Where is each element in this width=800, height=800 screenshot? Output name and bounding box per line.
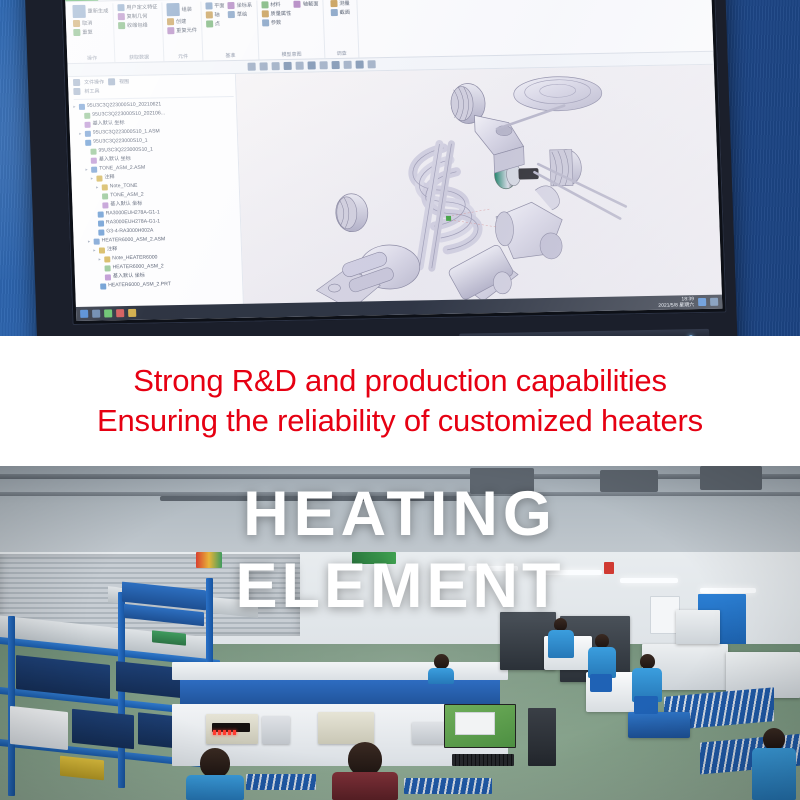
tree-node-label: HEATER6000_ASM_2.PRT (108, 280, 171, 290)
tree-expand-icon[interactable]: ▸ (86, 237, 91, 246)
ribbon-group-title: 元件 (178, 53, 188, 60)
worker-torso (428, 668, 454, 684)
material-icon (261, 1, 268, 8)
worker-torso (186, 775, 244, 800)
tree-node-label: HEATER6000_ASM_2.ASM (101, 235, 165, 245)
factory-worker-foreground (186, 748, 244, 800)
tree-node-asm-icon (94, 238, 100, 244)
caption-band: Strong R&D and production capabilities E… (0, 336, 800, 466)
ribbon-item-label: 草绘 (237, 11, 248, 18)
repaint-icon[interactable] (284, 62, 292, 70)
ceiling-lamp (468, 566, 518, 571)
control-cabinet (676, 610, 720, 644)
datum-display-icon[interactable] (308, 61, 316, 69)
worker-head (763, 728, 785, 750)
section-icon (294, 1, 301, 8)
model-tree-toolbar-secondary[interactable]: 树工具 (71, 85, 235, 97)
ribbon-item-coordinate-system[interactable]: 坐标系 (227, 2, 252, 9)
creo-taskbar-icon[interactable] (116, 309, 124, 317)
copy-geometry-icon (117, 13, 124, 20)
tree-node-prt-icon (100, 283, 106, 289)
tree-toolbar-label[interactable]: 树工具 (84, 88, 99, 95)
tree-node-asm-icon (79, 103, 85, 109)
led-digit (213, 730, 216, 735)
ribbon-item-create[interactable]: 创建 (167, 18, 197, 26)
ceiling-lamp (620, 578, 678, 583)
worker-torso (548, 630, 574, 658)
worker-torso (752, 748, 796, 800)
ceiling-beam (0, 474, 800, 479)
part-valve-body (494, 186, 564, 260)
ribbon-item-label: 平面 (214, 2, 225, 9)
cad-workstation-photo: creo 文件 模型 分析 实时仿真 连接 (0, 0, 800, 336)
led-digit (228, 730, 231, 735)
ribbon-item-repeat[interactable]: 重复元件 (167, 27, 197, 35)
storage-bin (72, 709, 134, 750)
fire-alarm-icon (604, 562, 614, 574)
led-digit (233, 730, 236, 735)
creo-workspace: 文件操作 视图 树工具 ▸95U3C3Q223000S10_2021062195… (68, 65, 722, 307)
tree-node-label: 注释 (107, 245, 118, 254)
tree-view-icon[interactable] (108, 78, 115, 85)
led-digit (218, 730, 221, 735)
part-threaded-nut-left (335, 193, 368, 232)
ribbon-group-title: 调查 (337, 50, 347, 57)
tree-node-label: TONE_ASM_2.ASM (99, 164, 145, 174)
tree-node-asm-icon (91, 166, 97, 172)
factory-worker-behind-bench (428, 654, 454, 684)
ribbon-item-parameters[interactable]: 参数 (262, 19, 292, 27)
caption-line-2: Ensuring the reliability of customized h… (97, 401, 703, 441)
ribbon-item-user-defined-feature[interactable]: 用户定义特征 (117, 3, 157, 11)
exploded-assembly-model[interactable] (236, 65, 722, 304)
ceiling-duct (600, 470, 658, 492)
ribbon-item-copy-geometry[interactable]: 复制几何 (117, 12, 157, 20)
zoom-in-icon[interactable] (260, 62, 268, 70)
ceiling-duct (700, 466, 762, 490)
ribbon-item-label: 收缩包络 (127, 22, 148, 29)
worker-head (200, 748, 230, 778)
ribbon-group-operations: 重新生成 取消 重复 (68, 3, 115, 63)
cross-section-icon (330, 9, 337, 16)
part-mounting-flange (315, 244, 421, 303)
ribbon-item-assemble[interactable]: 组装 (166, 3, 196, 17)
caption-line-1: Strong R&D and production capabilities (133, 361, 667, 401)
show-desktop-icon[interactable] (710, 298, 718, 306)
ribbon-item-label: 用户定义特征 (126, 3, 157, 11)
ribbon-item-label: 测量 (339, 0, 350, 7)
ribbon-item-label: 重复元件 (176, 27, 197, 34)
model-tree-pane[interactable]: 文件操作 视图 树工具 ▸95U3C3Q223000S10_2021062195… (68, 74, 244, 307)
factory-worker (548, 618, 574, 658)
tree-node-dat-icon (104, 265, 110, 271)
ribbon-item-redo[interactable]: 重复 (73, 28, 109, 36)
notification-icon[interactable] (698, 298, 706, 306)
display-style-icon[interactable] (332, 61, 340, 69)
tree-expand-icon[interactable]: ▸ (89, 174, 94, 183)
led-digit (223, 730, 226, 735)
datum-axis-icon (205, 11, 212, 18)
factory-worker (752, 728, 796, 800)
zoom-fit-icon[interactable] (248, 63, 256, 71)
browser-icon[interactable] (128, 309, 136, 317)
parts-on-bench (246, 774, 316, 790)
ribbon-item-regenerate[interactable]: 重新生成 (72, 4, 108, 18)
regenerate-icon (72, 5, 85, 18)
redo-icon (73, 29, 80, 36)
sketch-icon (228, 11, 235, 18)
ribbon-item-label: 组装 (181, 6, 192, 13)
part-threaded-sleeve-right (550, 149, 582, 186)
tree-node-csys-icon (91, 157, 97, 163)
instrument-led-display (212, 723, 250, 732)
shrinkwrap-icon (118, 22, 125, 29)
worker-stool (634, 696, 658, 714)
tree-node-asm-icon (85, 130, 91, 136)
ribbon-item-label: 重复 (82, 29, 93, 36)
factory-worker (632, 654, 662, 702)
tree-node-dat-icon (90, 148, 96, 154)
tree-node-note-icon (96, 175, 102, 181)
part-coiled-heating-tube (412, 143, 479, 268)
model-tree-node-list[interactable]: ▸95U3C3Q223000S10_2021062195U3C3Q223000S… (72, 99, 243, 291)
udf-icon (117, 4, 124, 11)
saved-orientations-icon[interactable] (296, 62, 304, 70)
ribbon-item-axis[interactable]: 轴 (205, 11, 225, 18)
worker-head (595, 634, 609, 648)
spin-center-icon[interactable] (320, 61, 328, 69)
ribbon-item-mass-properties[interactable]: 质量属性 (261, 10, 291, 18)
ribbon-item-label: 轴截面 (303, 0, 319, 7)
monitor-window (455, 712, 496, 736)
ribbon-item-label: 点 (215, 20, 220, 27)
ribbon-item-label: 轴 (214, 11, 219, 18)
parameters-icon (262, 19, 269, 26)
floor-tote-bin (628, 712, 690, 738)
ribbon-item-label: 材料 (270, 1, 281, 8)
workbench-upper-shelf (172, 662, 508, 680)
ribbon-group-datum: 平面 轴 点 (201, 1, 259, 61)
create-icon (167, 18, 174, 25)
test-instrument-meter[interactable] (318, 712, 374, 744)
ribbon-item-label: 创建 (176, 18, 187, 25)
ribbon-item-label: 截面 (339, 9, 350, 16)
ceiling-pipe (160, 496, 460, 501)
selection-marker (446, 216, 451, 221)
undo-icon (73, 20, 80, 27)
ribbon-item-plane[interactable]: 平面 (205, 2, 225, 9)
storage-bin (10, 706, 68, 750)
ribbon-group-model-intent: 材料 质量属性 参数 (257, 0, 325, 59)
zoom-out-icon[interactable] (272, 62, 280, 70)
ribbon-item-label: 坐标系 (236, 2, 252, 9)
ribbon-group-investigate: 测量 截面 调查 (323, 0, 359, 58)
worker-head (434, 654, 449, 669)
tree-expand-icon[interactable]: ▸ (92, 246, 97, 255)
workbench-pc-tower (528, 708, 556, 766)
ribbon-group-component: 组装 创建 重复元件 (162, 2, 203, 62)
tree-node-csys-icon (105, 274, 111, 280)
ribbon-group-title: 基准 (225, 52, 235, 59)
tree-expand-icon[interactable]: ▸ (95, 183, 100, 192)
tree-node-label: 95U3C3Q223000S10_202106... (92, 109, 165, 119)
ribbon-item-cross-section[interactable]: 截面 (330, 9, 350, 16)
ceiling-duct (470, 468, 534, 494)
worker-head (640, 654, 655, 669)
mass-properties-icon (261, 10, 268, 17)
safety-sign (196, 552, 222, 568)
tree-node-dat-icon (84, 112, 90, 118)
ribbon-item-label: 质量属性 (270, 10, 291, 17)
ribbon-item-label: 取消 (82, 20, 93, 27)
ribbon-group-title: 获取数据 (129, 54, 149, 61)
exit-sign (352, 552, 396, 564)
factory-floor-photo (0, 466, 800, 800)
ribbon-item-label: 重新生成 (87, 7, 108, 14)
test-instrument-hipot[interactable] (206, 714, 258, 744)
banner-page: creo 文件 模型 分析 实时仿真 连接 (0, 0, 800, 800)
workbench-monitor[interactable] (444, 704, 516, 748)
assemble-icon (166, 3, 179, 16)
ribbon-item-label: 复制几何 (126, 13, 147, 20)
explorer-icon[interactable] (104, 309, 112, 317)
workbench-monitor-screen (445, 705, 515, 747)
datum-plane-icon (205, 2, 212, 9)
ribbon-item-measure[interactable]: 测量 (330, 0, 350, 7)
search-icon[interactable] (92, 310, 100, 318)
tree-node-csys-icon (102, 202, 108, 208)
tree-node-csys-icon (84, 121, 90, 127)
ribbon-item-material[interactable]: 材料 (261, 1, 291, 9)
taskbar-spacer (140, 303, 654, 313)
ribbon-item-undo[interactable]: 取消 (73, 19, 109, 27)
tree-filter-icon[interactable] (73, 79, 80, 86)
start-icon[interactable] (80, 310, 88, 318)
test-instrument-box[interactable] (262, 716, 290, 744)
ribbon-item-label: 参数 (271, 19, 282, 26)
ribbon-item-point[interactable]: 点 (206, 20, 226, 27)
appearance-icon[interactable] (356, 60, 364, 68)
ceiling-lamp (540, 570, 602, 575)
tree-node-prt-icon (98, 220, 104, 226)
workbench-keyboard[interactable] (452, 754, 514, 766)
model-tree-node[interactable]: HEATER6000_ASM_2.PRT (78, 279, 242, 291)
tree-settings-icon[interactable] (73, 88, 80, 95)
ribbon-item-section[interactable]: 轴截面 (294, 0, 319, 7)
factory-ceiling (0, 466, 800, 562)
perspective-icon[interactable] (344, 61, 352, 69)
computer-monitor: creo 文件 模型 分析 实时仿真 连接 (24, 0, 738, 336)
tree-node-prt-icon (85, 139, 91, 145)
coordinate-system-icon (227, 2, 234, 9)
repeat-icon (167, 27, 174, 34)
part-probe-rod-upper (496, 106, 565, 129)
measure-icon (330, 0, 337, 7)
tree-expand-icon[interactable]: ▸ (84, 165, 89, 174)
worker-head (348, 742, 382, 776)
tree-node-note-icon (102, 184, 108, 190)
worker-stool (590, 674, 612, 692)
tree-expand-icon[interactable]: ▸ (78, 129, 83, 138)
monitor-screen: creo 文件 模型 分析 实时仿真 连接 (64, 0, 722, 321)
tree-node-note-icon (104, 256, 110, 262)
monitor-stand (459, 329, 710, 336)
datum-point-icon (206, 20, 213, 27)
ribbon-item-shrinkwrap[interactable]: 收缩包络 (118, 21, 158, 29)
clock-date: 2021/5/8 星期六 (658, 302, 694, 309)
taskbar-clock[interactable]: 18:39 2021/5/8 星期六 (658, 296, 694, 309)
worker-torso (332, 772, 398, 800)
factory-worker (588, 634, 616, 678)
ribbon-group-title: 操作 (87, 55, 97, 62)
part-end-cap-disc (513, 76, 602, 112)
ribbon-item-sketch[interactable]: 草绘 (228, 11, 253, 18)
annotation-display-icon[interactable] (368, 60, 376, 68)
ribbon-group-title: 模型意图 (281, 51, 301, 58)
ceiling-lamp (700, 588, 756, 593)
tree-node-label: 注释 (104, 173, 115, 182)
ribbon-group-get-data: 用户定义特征 复制几何 收缩包络 (113, 2, 164, 62)
tree-expand-icon[interactable]: ▸ (72, 102, 77, 111)
tree-toolbar-label[interactable]: 文件操作 (84, 78, 104, 85)
tree-expand-icon[interactable]: ▸ (97, 255, 102, 264)
tree-node-dat-icon (102, 193, 108, 199)
tree-node-prt-icon (98, 211, 104, 217)
tree-node-prt-icon (98, 229, 104, 235)
tree-node-note-icon (99, 247, 105, 253)
tree-toolbar-label[interactable]: 视图 (119, 78, 129, 85)
graphics-window[interactable] (236, 65, 722, 304)
parts-on-bench (404, 778, 492, 794)
factory-worker-foreground (332, 742, 398, 800)
